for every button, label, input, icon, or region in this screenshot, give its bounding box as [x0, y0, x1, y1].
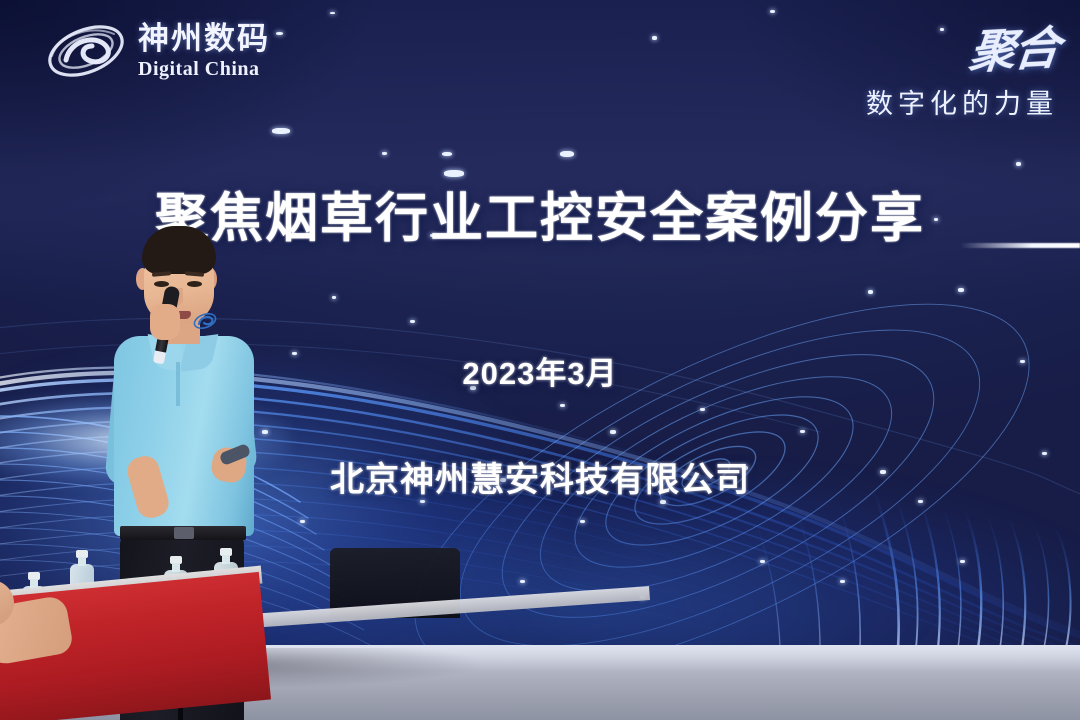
light-particle [382, 152, 387, 155]
light-particle [652, 36, 657, 40]
light-particle [580, 520, 585, 523]
light-particle [760, 560, 765, 563]
speaker-belt-buckle [174, 527, 194, 539]
light-particle [332, 296, 336, 299]
light-particle [700, 408, 705, 411]
speaker-hand-holding-mic [150, 304, 180, 340]
digital-china-wordmark: 神州数码 Digital China [138, 23, 270, 79]
light-particle [840, 580, 845, 583]
light-particle [276, 32, 283, 35]
company-logo-badge-icon [192, 310, 218, 332]
right-edge-light-streak [960, 243, 1080, 248]
event-logo: 聚合 数字化的力量 [866, 14, 1058, 121]
light-particle [1016, 162, 1021, 166]
light-particle [610, 430, 616, 434]
light-particle [520, 580, 525, 583]
light-particle [770, 10, 775, 13]
light-particle [958, 288, 964, 292]
light-particle [800, 430, 805, 433]
light-particle [560, 404, 565, 407]
event-calligraphy: 聚合 [966, 12, 1062, 83]
light-particle [960, 560, 965, 563]
event-subtitle: 数字化的力量 [866, 82, 1058, 121]
digital-china-logo: 神州数码 Digital China [44, 16, 270, 86]
light-particle [560, 151, 574, 157]
conference-stage-photo: 神州数码 Digital China 聚合 数字化的力量 聚焦烟草行业工控安全案… [0, 0, 1080, 720]
light-particle [442, 152, 452, 156]
brand-name-cn: 神州数码 [138, 23, 270, 54]
light-particle [272, 128, 290, 134]
brand-name-en: Digital China [138, 59, 270, 79]
light-particle [868, 290, 873, 294]
speaker-shirt-placket [176, 362, 180, 406]
light-particle [410, 320, 415, 323]
light-particle [300, 520, 305, 523]
digital-china-spiral-icon [44, 16, 128, 86]
speaker-hair [142, 226, 216, 274]
light-particle [330, 12, 335, 14]
microphone-tail [153, 350, 166, 364]
speaker-eye-right [187, 281, 202, 287]
